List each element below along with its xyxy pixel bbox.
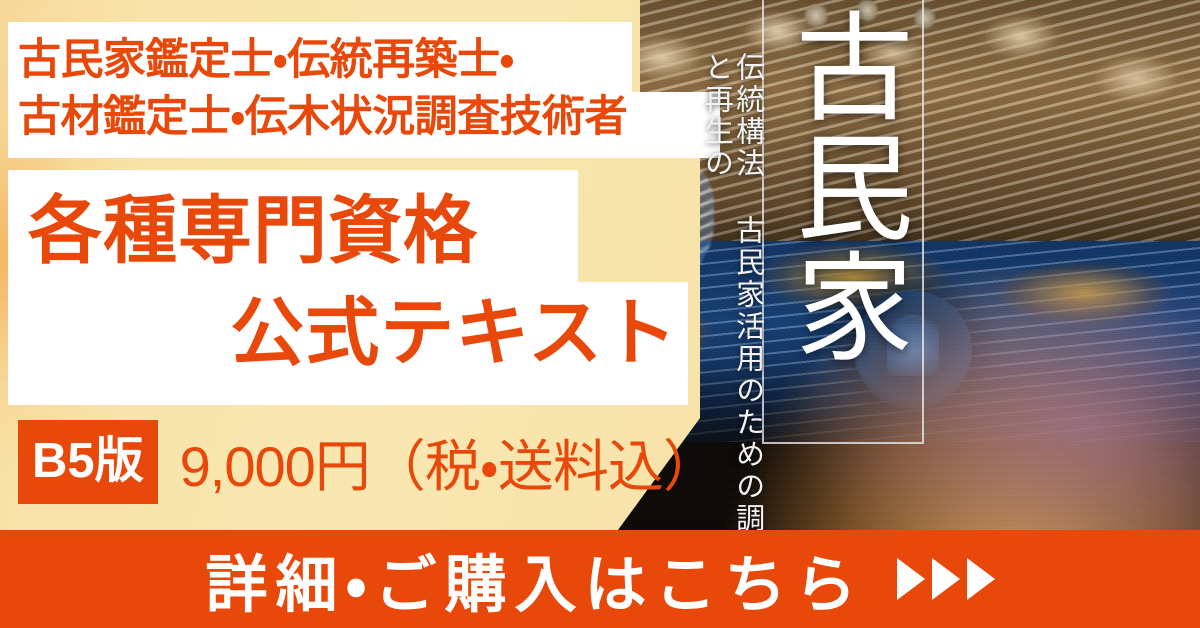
headline: 各種専門資格 公式テキスト [18, 180, 698, 384]
format-badge: B5版 [18, 420, 158, 504]
certifications-text: 古民家鑑定士・伝統再築士・ 古材鑑定士・伝木状況調査技術者 [18, 32, 728, 146]
headline-line-1: 各種専門資格 [18, 180, 698, 282]
headline-line-2: 公式テキスト [18, 282, 698, 384]
cta-label: 詳細・ご購入はこちら [205, 534, 864, 624]
chevron-right-icon [967, 558, 995, 600]
chevron-right-icon [897, 558, 925, 600]
certifications-line-1: 古民家鑑定士・伝統再築士・ [18, 32, 728, 89]
cta-bar[interactable]: 詳細・ご購入はこちら [0, 530, 1200, 628]
cta-arrows [897, 558, 995, 600]
promo-banner: 伝統構法 古民家活用のための調査と再生の 古民家 古民家鑑定士・伝統再築士・ 古… [0, 0, 1200, 628]
chevron-right-icon [932, 558, 960, 600]
certifications-line-2: 古材鑑定士・伝木状況調査技術者 [18, 89, 728, 146]
price-text: 9,000円（税・送料込） [180, 422, 718, 503]
book-cover-subtitle: 伝統構法 古民家活用のための調査と再生の [700, 52, 763, 572]
book-cover-title: 古民家 [772, 6, 912, 426]
price-row: B5版 9,000円（税・送料込） [18, 420, 718, 504]
